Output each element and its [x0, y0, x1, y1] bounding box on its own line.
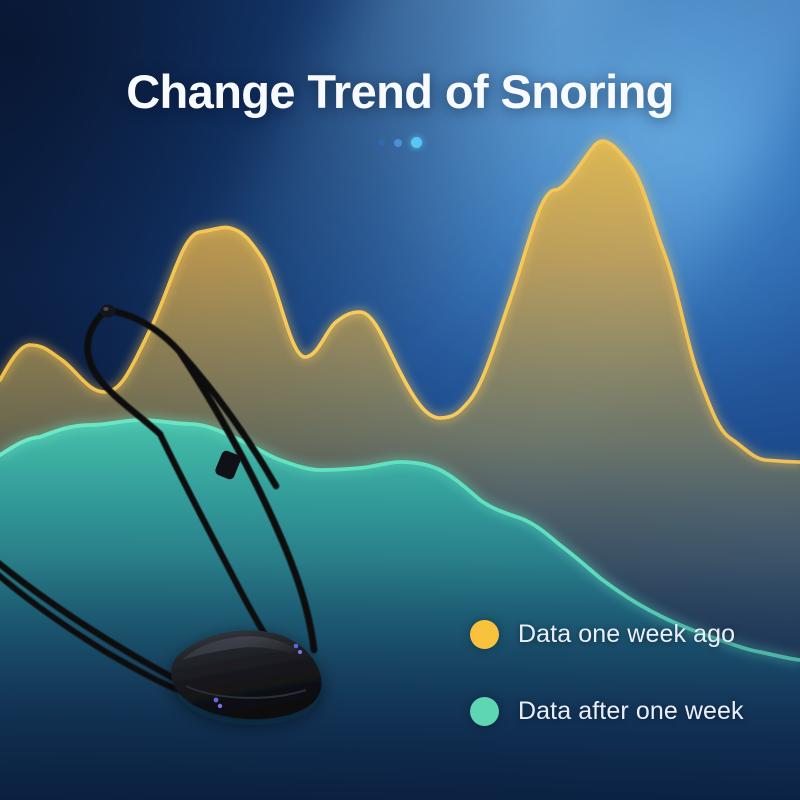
- snoring-trend-poster: Change Trend of Snoring Data one week ag…: [0, 0, 800, 800]
- pager-dots[interactable]: [0, 137, 800, 148]
- legend-label-after-one-week: Data after one week: [518, 697, 744, 726]
- device-body: [171, 630, 321, 719]
- chart-legend: Data one week ago Data after one week: [470, 620, 744, 726]
- pager-dot-1[interactable]: [378, 139, 385, 146]
- lanyard-loop-left: [88, 312, 160, 434]
- device-led-2: [218, 704, 222, 708]
- device-led-1: [214, 698, 219, 703]
- legend-label-one-week-ago: Data one week ago: [518, 620, 735, 649]
- pager-dot-2[interactable]: [394, 139, 402, 147]
- legend-swatch-teal: [470, 697, 499, 726]
- lanyard-loop-right: [112, 311, 276, 486]
- lanyard-bead: [101, 305, 116, 318]
- device-led-3: [294, 644, 299, 649]
- lanyard-bead-highlight: [103, 307, 108, 311]
- page-title: Change Trend of Snoring: [0, 64, 800, 119]
- legend-item-after-one-week[interactable]: Data after one week: [470, 697, 744, 726]
- pager-dot-3-active[interactable]: [411, 137, 422, 148]
- device-led-4: [298, 650, 302, 654]
- lanyard-strand-left-outer: [0, 556, 190, 686]
- legend-item-one-week-ago[interactable]: Data one week ago: [470, 620, 744, 649]
- legend-swatch-orange: [470, 620, 499, 649]
